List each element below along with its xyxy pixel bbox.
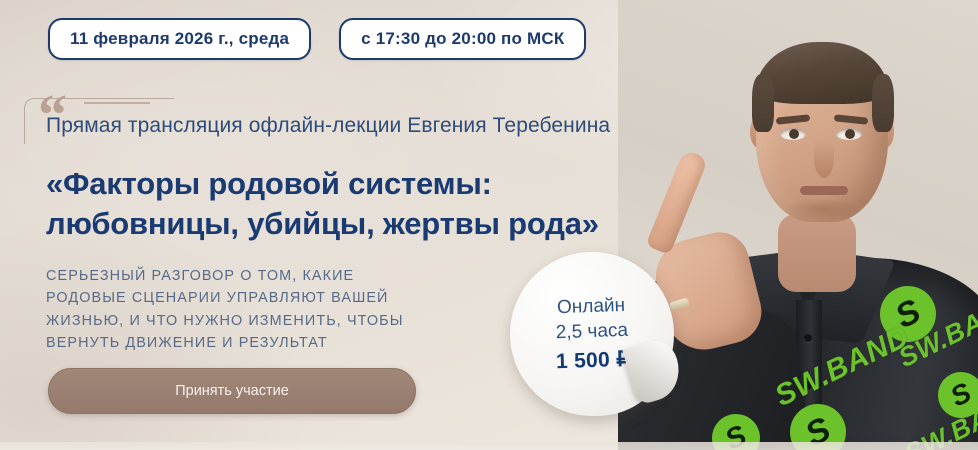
promo-banner: 11 февраля 2026 г., среда с 17:30 до 20:… xyxy=(0,0,978,450)
description-line: ЖИЗНЬЮ, И ЧТО НУЖНО ИЗМЕНИТЬ, ЧТОБЫ xyxy=(46,310,404,332)
bottom-strip xyxy=(0,442,978,450)
sticker-price-label: 1 500 ₽ xyxy=(556,347,631,375)
quote-rule-divider xyxy=(84,102,150,104)
hair-side-right xyxy=(872,74,894,132)
nose xyxy=(814,140,834,178)
join-button[interactable]: Принять участие xyxy=(48,368,416,414)
speaker-neck xyxy=(778,214,856,292)
shirt-button xyxy=(804,334,812,342)
mouth xyxy=(800,186,848,195)
eye-left xyxy=(780,128,806,140)
description-line: ВЕРНУТЬ ДВИЖЕНИЕ И РЕЗУЛЬТАТ xyxy=(46,332,404,354)
eye-right xyxy=(836,128,862,140)
time-pill[interactable]: с 17:30 до 20:00 по МСК xyxy=(339,18,586,60)
description-line: СЕРЬЕЗНЫЙ РАЗГОВОР О ТОМ, КАКИЕ xyxy=(46,265,404,287)
description-text: СЕРЬЕЗНЫЙ РАЗГОВОР О ТОМ, КАКИЕ РОДОВЫЕ … xyxy=(46,265,404,355)
shirt-button xyxy=(804,382,812,390)
kicker-text: Прямая трансляция офлайн-лекции Евгения … xyxy=(46,114,610,138)
chin-shadow xyxy=(786,198,862,220)
pupil-right xyxy=(845,129,855,139)
page-title: «Факторы родовой системы: любовницы, уби… xyxy=(46,164,599,245)
sticker-duration-label: 2,5 часа xyxy=(555,318,628,345)
hair-side-left xyxy=(752,74,774,132)
sticker-format-label: Онлайн xyxy=(557,294,626,321)
date-pill[interactable]: 11 февраля 2026 г., среда xyxy=(48,18,311,60)
event-meta-pills: 11 февраля 2026 г., среда с 17:30 до 20:… xyxy=(48,18,586,60)
headline-line-2: любовницы, убийцы, жертвы рода» xyxy=(46,204,599,244)
description-line: РОДОВЫЕ СЦЕНАРИИ УПРАВЛЯЮТ ВАШЕЙ xyxy=(46,287,404,309)
pupil-left xyxy=(789,129,799,139)
headline-line-1: «Факторы родовой системы: xyxy=(46,164,599,204)
